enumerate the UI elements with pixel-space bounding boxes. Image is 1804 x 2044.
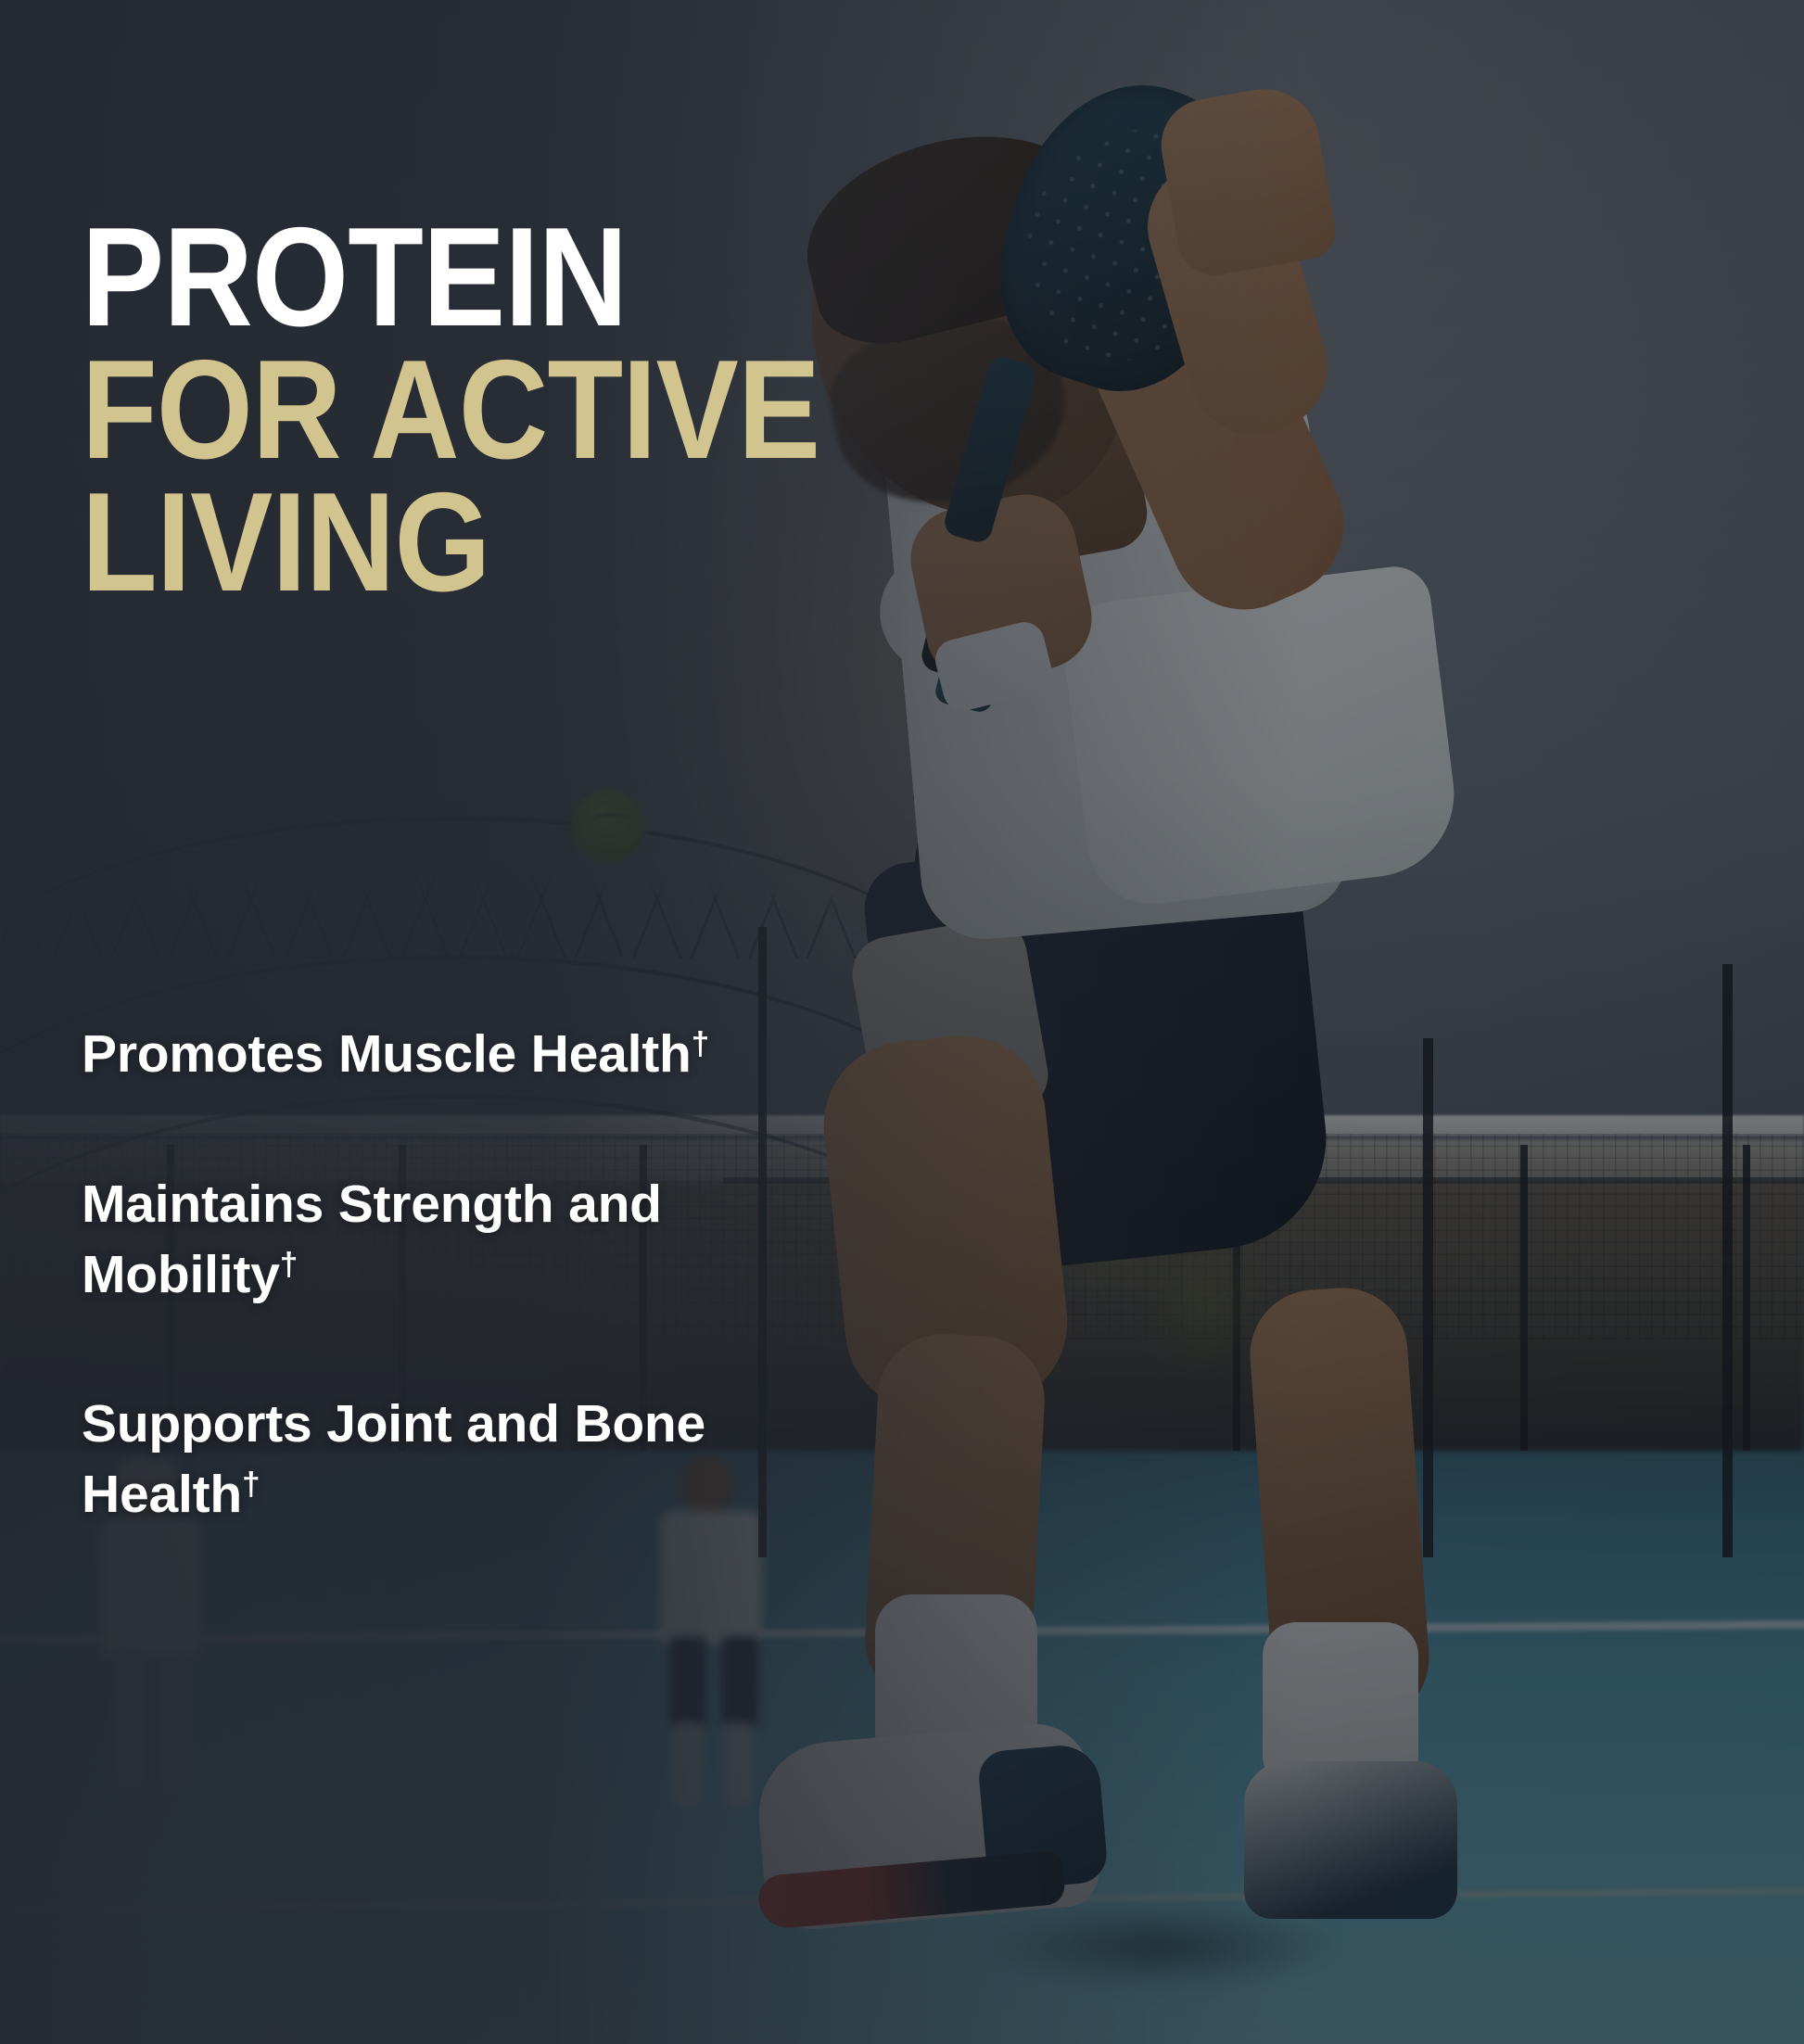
benefit-item: Supports Joint and Bone Health†: [82, 1390, 860, 1530]
benefit-item: Promotes Muscle Health†: [82, 1020, 860, 1090]
protein-hero-banner: PROTEIN FOR ACTIVE LIVING Promotes Muscl…: [0, 0, 1804, 2044]
benefit-text: Promotes Muscle Health: [82, 1024, 692, 1084]
benefit-text: Maintains Strength and Mobility: [82, 1174, 662, 1304]
headline-line-2: FOR ACTIVE: [82, 344, 897, 476]
page-title: PROTEIN FOR ACTIVE LIVING: [82, 211, 897, 609]
headline-line-3: LIVING: [82, 476, 897, 609]
footnote-dagger-icon: †: [242, 1466, 260, 1503]
benefits-list: Promotes Muscle Health† Maintains Streng…: [82, 1020, 860, 1530]
headline-line-1: PROTEIN: [82, 211, 897, 344]
benefit-item: Maintains Strength and Mobility†: [82, 1170, 860, 1311]
benefit-text: Supports Joint and Bone Health: [82, 1394, 705, 1524]
banner-content: PROTEIN FOR ACTIVE LIVING Promotes Muscl…: [0, 0, 1804, 2044]
footnote-dagger-icon: †: [692, 1026, 709, 1062]
footnote-dagger-icon: †: [280, 1246, 298, 1282]
